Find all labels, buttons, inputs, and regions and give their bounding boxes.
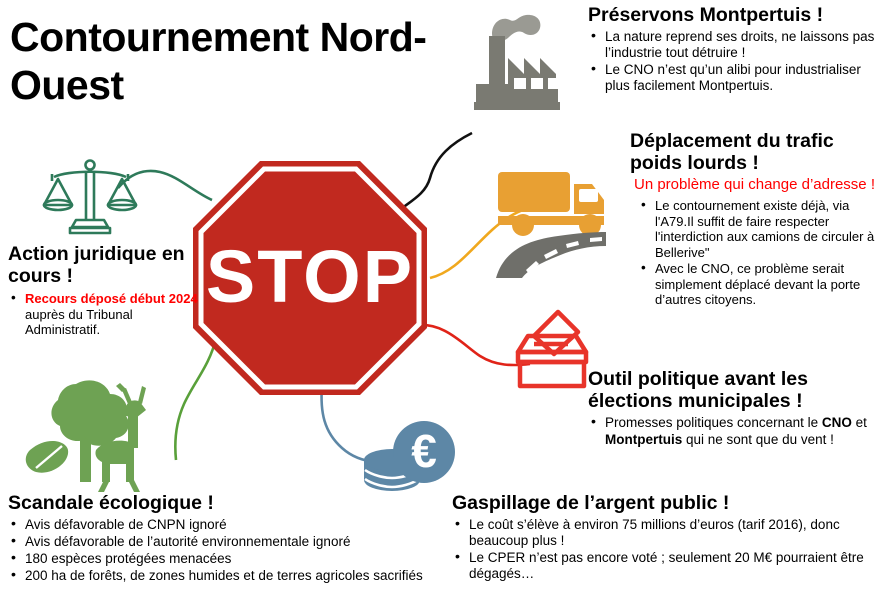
- section-deplacement-trafic: Déplacement du trafic poids lourds ! Un …: [630, 130, 884, 309]
- section-heading: Déplacement du trafic poids lourds !: [630, 130, 884, 174]
- deer-leg-back: [128, 480, 140, 492]
- scales-beam: [54, 172, 126, 177]
- euro-symbol: €: [411, 425, 437, 477]
- factory-floor: [474, 102, 560, 110]
- list-item: Avis défavorable de CNPN ignoré: [8, 517, 478, 533]
- bullet-lead-text: Promesses politiques concernant le: [605, 415, 822, 430]
- bullet-list: Le contournement existe déjà, via l'A79.…: [630, 198, 884, 307]
- stop-sign-icon: STOP: [190, 158, 430, 398]
- page-title: Contournement Nord-Ouest: [10, 14, 430, 109]
- factory-window-1: [514, 78, 526, 89]
- list-item: 180 espèces protégées menacées: [8, 551, 478, 567]
- euro-coins-icon: €: [356, 420, 458, 498]
- factory-icon: [452, 6, 570, 118]
- factory-window-2: [531, 78, 543, 89]
- leaf-shape: [26, 441, 68, 473]
- ballot-body: [520, 362, 584, 386]
- bullet-mid-text: et: [852, 415, 867, 430]
- section-heading: Scandale écologique !: [8, 492, 478, 514]
- truck-wheel-front: [512, 214, 534, 236]
- truck-cargo-box: [498, 172, 570, 212]
- scales-post: [86, 172, 94, 220]
- section-heading: Préservons Montpertuis !: [588, 4, 884, 26]
- stop-label: STOP: [206, 235, 414, 318]
- scales-foot-top: [72, 220, 108, 227]
- list-item: Le contournement existe déjà, via l'A79.…: [638, 198, 884, 260]
- nature-deer-tree-icon: [18, 374, 176, 494]
- scales-of-justice-icon: [38, 156, 142, 238]
- infographic-poster: Contournement Nord-Ouest STOP // stop la…: [0, 0, 884, 605]
- truck-cab-window: [579, 189, 598, 202]
- factory-window-3: [548, 78, 560, 89]
- truck-icon: [480, 162, 608, 280]
- section-outil-politique: Outil politique avant les élections muni…: [588, 368, 884, 449]
- list-item: Avec le CNO, ce problème serait simpleme…: [638, 261, 884, 307]
- section-heading: Gaspillage de l’argent public !: [452, 492, 884, 514]
- bullet-list: Le coût s’élève à environ 75 millions d’…: [452, 517, 884, 582]
- list-item: Le CPER n’est pas encore voté ; seulemen…: [452, 550, 884, 582]
- section-heading: Outil politique avant les élections muni…: [588, 368, 884, 412]
- bullet-list: Promesses politiques concernant le CNO e…: [588, 415, 884, 447]
- tree-branch-mid: [83, 412, 88, 434]
- scales-foot-base: [70, 228, 110, 233]
- bullet-rest-text: auprès du Tribunal Administratif.: [25, 307, 133, 337]
- section-heading: Action juridique en cours !: [8, 243, 208, 287]
- list-item: Promesses politiques concernant le CNO e…: [588, 415, 884, 447]
- list-item: Avis défavorable de l’autorité environne…: [8, 534, 478, 550]
- section-action-juridique: Action juridique en cours ! Recours dépo…: [8, 243, 208, 339]
- bullet-list: La nature reprend ses droits, ne laisson…: [588, 29, 884, 94]
- list-item: Recours déposé début 2024 auprès du Trib…: [8, 291, 208, 337]
- list-item: Le coût s’élève à environ 75 millions d’…: [452, 517, 884, 549]
- list-item: La nature reprend ses droits, ne laisson…: [588, 29, 884, 61]
- deer-antler-right: [138, 386, 146, 404]
- scales-knob: [86, 161, 95, 170]
- bullet-bold-montpertuis: Montpertuis: [605, 432, 682, 447]
- deer-neck: [128, 414, 138, 448]
- list-item: Le CNO n’est qu’un alibi pour industrial…: [588, 62, 884, 94]
- section-preservons-montpertuis: Préservons Montpertuis ! La nature repre…: [588, 4, 884, 95]
- section-scandale-ecologique: Scandale écologique ! Avis défavorable d…: [8, 492, 478, 585]
- list-item: 200 ha de forêts, de zones humides et de…: [8, 568, 478, 584]
- section-subheading: Un problème qui change d’adresse !: [630, 176, 884, 194]
- bullet-list: Avis défavorable de CNPN ignoré Avis déf…: [8, 517, 478, 584]
- section-gaspillage-argent-public: Gaspillage de l’argent public ! Le coût …: [452, 492, 884, 583]
- bullet-list: Recours déposé début 2024 auprès du Trib…: [8, 291, 208, 337]
- ballot-box-icon: [506, 306, 598, 390]
- bullet-bold-cno: CNO: [822, 415, 852, 430]
- ballot-paper: [534, 312, 578, 354]
- tree-trunk: [80, 432, 91, 482]
- deer-leg-front: [98, 480, 110, 492]
- bullet-tail-text: qui ne sont que du vent !: [682, 432, 834, 447]
- bullet-red-highlight: Recours déposé début 2024: [25, 291, 198, 306]
